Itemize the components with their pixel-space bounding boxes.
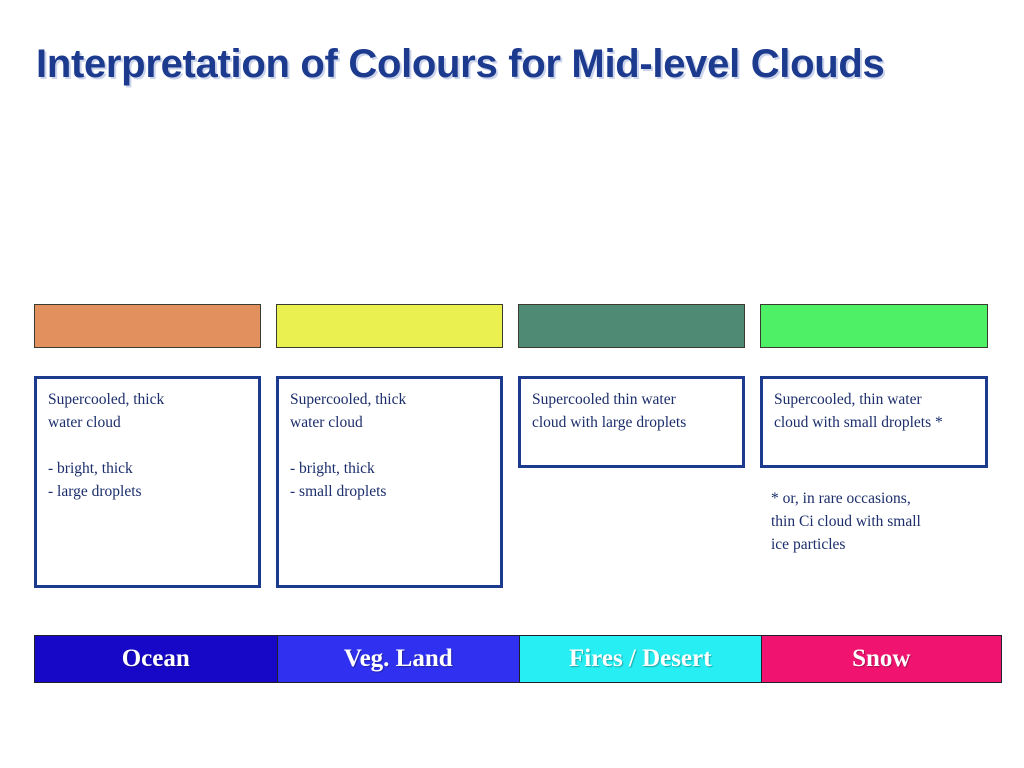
description-box-supercooled-thick-small-droplets: Supercooled, thick water cloud - bright,… — [276, 376, 503, 588]
legend-segment-ocean: Ocean — [35, 636, 278, 682]
page-title: Interpretation of Colours for Mid-level … — [36, 38, 996, 90]
description-box-supercooled-thin-small-droplets: Supercooled, thin water cloud with small… — [760, 376, 988, 468]
swatch-bright-green — [760, 304, 988, 348]
legend-segment-veg-land: Veg. Land — [278, 636, 521, 682]
swatch-sea-green — [518, 304, 745, 348]
legend-segment-snow: Snow — [762, 636, 1002, 682]
slide-canvas: Interpretation of Colours for Mid-level … — [0, 0, 1024, 768]
surface-type-legend-bar: Ocean Veg. Land Fires / Desert Snow — [34, 635, 1002, 683]
legend-segment-fires-desert: Fires / Desert — [520, 636, 762, 682]
description-box-supercooled-thick-large-droplets: Supercooled, thick water cloud - bright,… — [34, 376, 261, 588]
footnote-text: * or, in rare occasions, thin Ci cloud w… — [771, 487, 996, 556]
colour-swatch-row — [34, 304, 988, 348]
swatch-salmon-orange — [34, 304, 261, 348]
description-box-supercooled-thin-large-droplets: Supercooled thin water cloud with large … — [518, 376, 745, 468]
swatch-yellow-green — [276, 304, 503, 348]
